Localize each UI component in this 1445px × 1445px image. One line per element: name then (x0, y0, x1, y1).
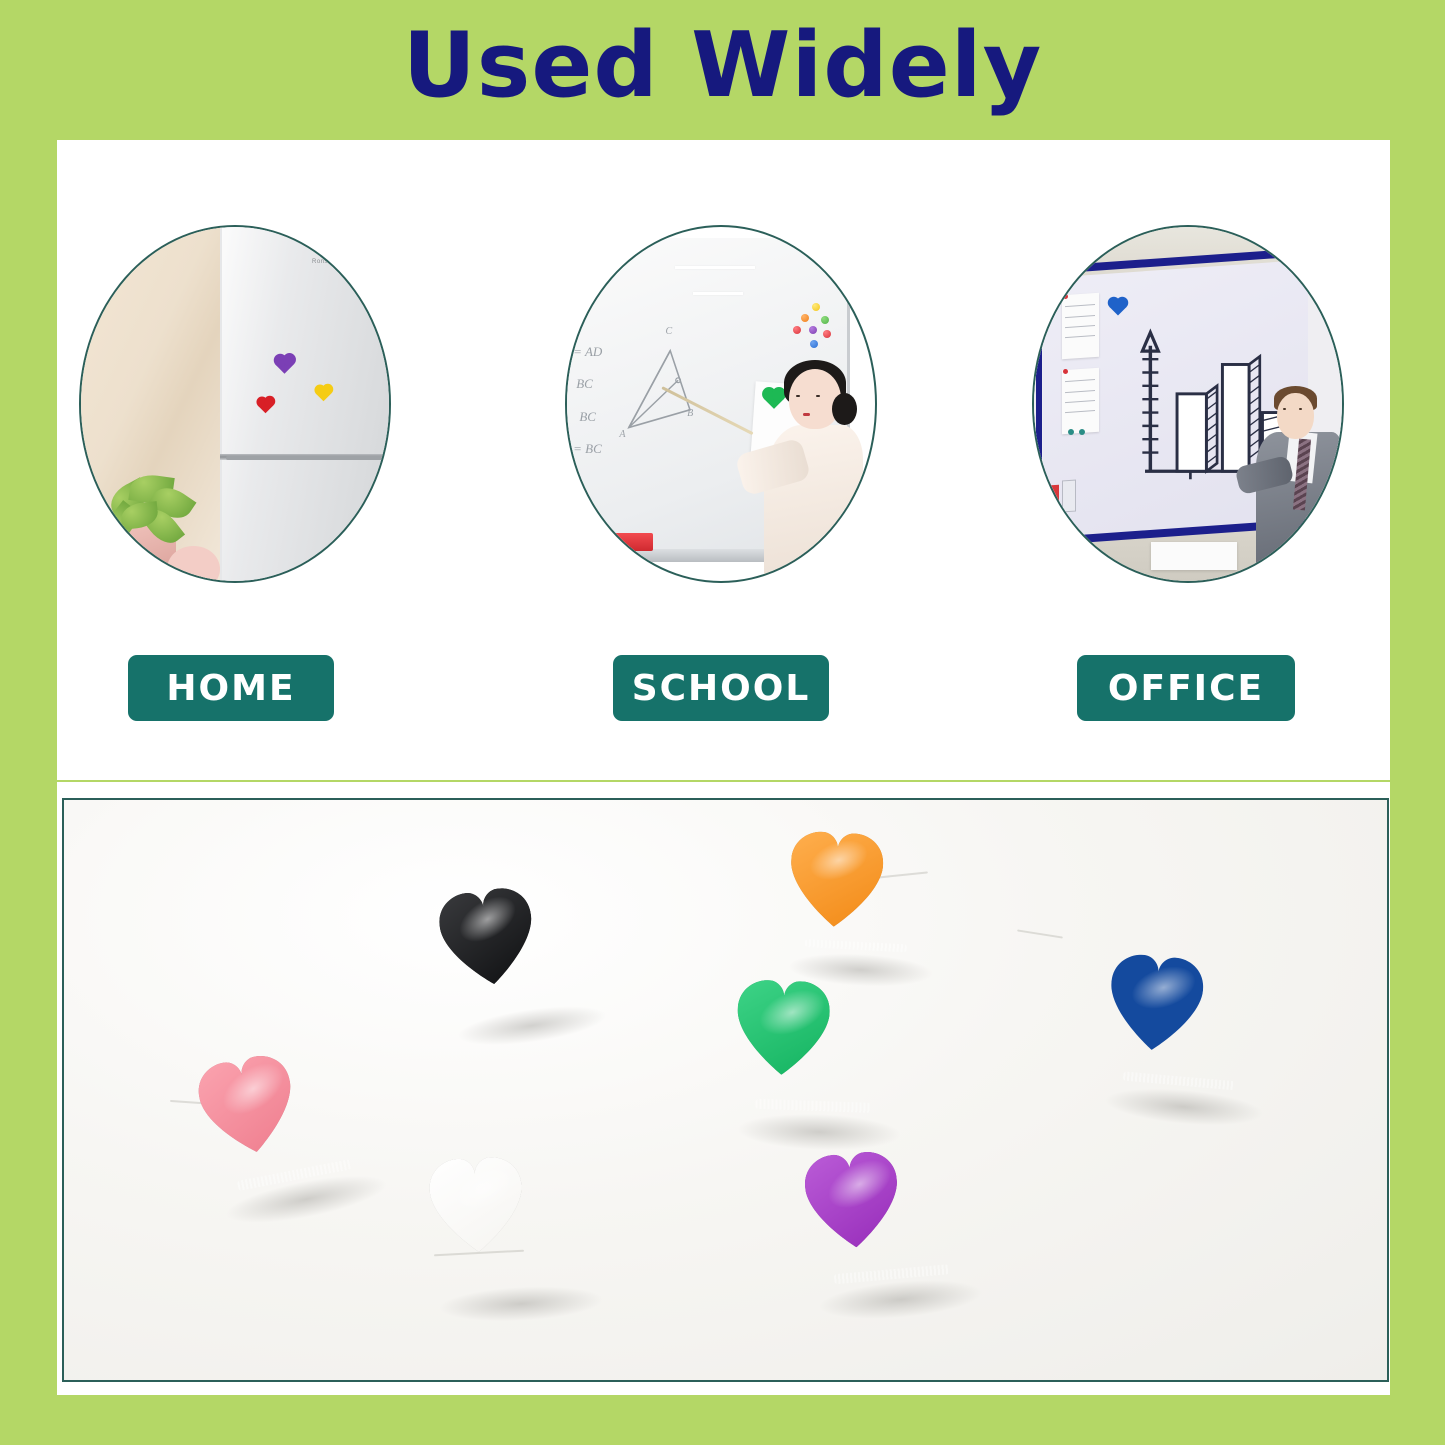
round-magnet-red-2 (823, 330, 831, 338)
badge-home[interactable]: HOME (128, 655, 334, 721)
round-magnet-yellow (812, 303, 820, 311)
infographic-page: Used Widely Ronshen (0, 0, 1445, 1445)
round-magnet-purple (809, 326, 817, 334)
round-magnet-orange (801, 314, 809, 322)
marker-holder (1062, 480, 1076, 513)
yellow-heart-magnet (315, 383, 332, 400)
green-heart-magnet (763, 386, 785, 408)
magnet-ridge (755, 1099, 871, 1113)
page-title: Used Widely (403, 21, 1043, 111)
title-bar: Used Widely (0, 0, 1445, 140)
magnet-top (782, 828, 943, 961)
whiteboard-eraser (610, 533, 653, 551)
board-equation: BC (579, 409, 596, 425)
teacher-head (789, 369, 841, 429)
blue-heart-magnet (1108, 296, 1128, 316)
board-equation: = AD (573, 344, 602, 360)
purple-heart-magnet (275, 353, 294, 372)
triangle-label-B: B (687, 408, 693, 419)
magnet-ridge (804, 939, 907, 953)
magnet-ridge (833, 1264, 949, 1284)
whiteboard-highlight-line (693, 292, 742, 295)
purple-heart-magnet (798, 1141, 986, 1316)
magnet-ridge (1122, 1071, 1235, 1090)
refrigerator-logo: Ronshen (312, 259, 340, 265)
magnet-top (1098, 949, 1279, 1099)
refrigerator (220, 225, 391, 583)
whiteboard-frame-left (1036, 273, 1042, 493)
magnet-top (431, 874, 607, 1024)
board-equation: BC (576, 376, 593, 392)
whiteboard-highlight-line (675, 266, 755, 269)
magnet-top (424, 1149, 606, 1294)
businessman-head (1277, 393, 1314, 439)
surface-texture (1017, 930, 1063, 939)
pinned-note (1062, 367, 1099, 433)
magnet-top (798, 1141, 984, 1293)
product-photo (62, 798, 1389, 1382)
magnet-top (730, 977, 910, 1121)
board-equation: = BC (573, 441, 602, 457)
pinned-note (1062, 293, 1099, 359)
triangle-label-C: C (666, 326, 673, 337)
whiteboard-marker (1051, 485, 1059, 510)
badge-office[interactable]: OFFICE (1077, 655, 1295, 721)
businessman-eye-right (1299, 408, 1302, 410)
round-magnet-teal-b (1079, 429, 1085, 435)
black-heart-magnet (431, 874, 610, 1045)
orange-heart-magnet (781, 828, 943, 981)
blue-heart-magnet (1096, 949, 1279, 1121)
scene-circle-home: Ronshen (79, 225, 391, 583)
round-magnet-green (821, 316, 829, 324)
round-magnet-red-b (1063, 369, 1068, 374)
triangle-label-A: A (619, 429, 625, 440)
pink-heart-magnet (189, 1034, 391, 1224)
round-magnet-teal-a (1068, 429, 1074, 435)
teacher-hair-bun (832, 393, 857, 425)
red-heart-magnet (257, 395, 274, 412)
scene-circle-office (1032, 225, 1344, 583)
white-heart-magnet (424, 1149, 607, 1316)
product-photo-panel (57, 782, 1390, 1395)
green-heart-magnet (729, 977, 909, 1143)
office-desk-paper (1151, 542, 1237, 570)
refrigerator-handle (226, 456, 391, 460)
scene-circle-school: = AD BC BC = BC C A B (565, 225, 877, 583)
badge-school[interactable]: SCHOOL (613, 655, 829, 721)
teacher-mouth (803, 413, 810, 416)
